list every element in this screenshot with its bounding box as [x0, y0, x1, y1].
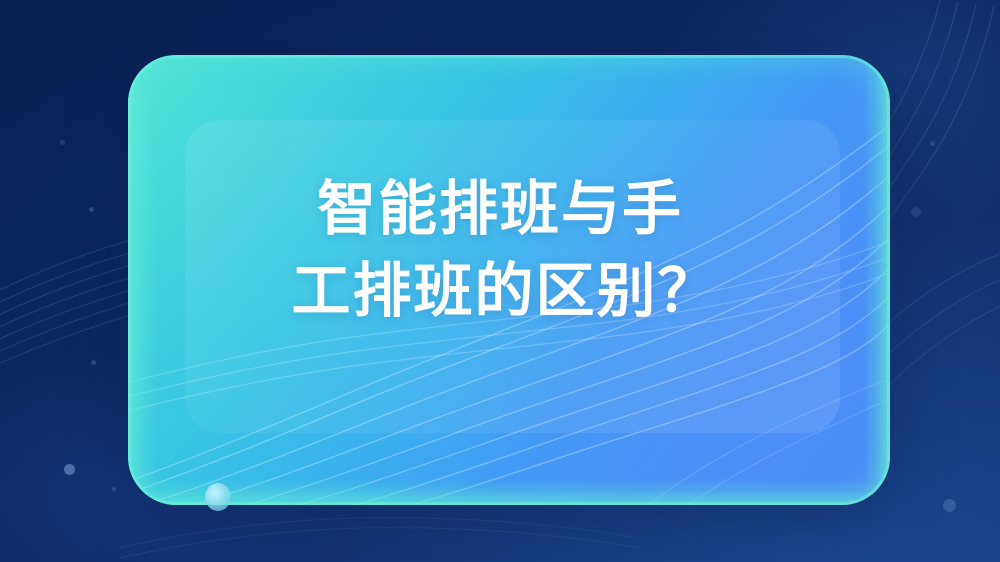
floating-dot — [91, 360, 96, 365]
floating-dot — [930, 141, 935, 146]
rounded-card-panel — [128, 55, 890, 505]
accent-circle — [205, 483, 231, 511]
floating-dot — [89, 207, 94, 212]
floating-dot — [112, 487, 116, 491]
floating-dot — [60, 140, 65, 145]
card-edge-glow-right — [864, 55, 890, 505]
floating-dot — [943, 499, 956, 512]
card-edge-glow-left — [128, 55, 158, 505]
inner-glass-panel — [185, 120, 840, 433]
floating-dot — [911, 207, 921, 217]
floating-dot — [64, 464, 75, 475]
slide-canvas: 智能排班与手 工排班的区别？ — [0, 0, 1000, 562]
card-edge-glow-bottom — [128, 479, 890, 505]
